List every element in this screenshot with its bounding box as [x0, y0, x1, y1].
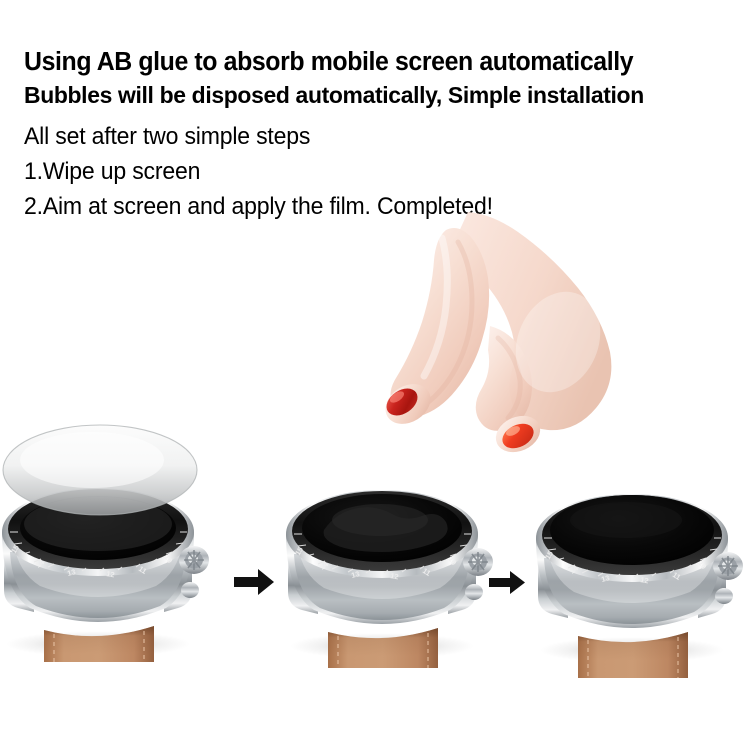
hand-back	[456, 212, 611, 430]
instructions-step-1: 1.Wipe up screen	[24, 154, 721, 189]
watch-step-2-finger-pressing: 15 14 13 12 11 10	[272, 418, 507, 668]
step-arrow-2-icon	[487, 568, 527, 597]
headline-secondary: Bubbles will be disposed automatically, …	[24, 79, 732, 112]
index-finger	[390, 228, 489, 417]
headline-primary: Using AB glue to absorb mobile screen au…	[24, 46, 732, 79]
instructions-step-2: 2.Aim at screen and apply the film. Comp…	[24, 189, 721, 224]
svg-text:12: 12	[640, 575, 650, 585]
watch-body: 15 14 13 12 11 10	[536, 494, 743, 628]
instructions-intro: All set after two simple steps	[24, 119, 721, 154]
installation-steps-illustration: 15 14 13 12 11 10	[0, 400, 750, 660]
watch-step-3-film-applied: 15 14 13 12 11 10	[522, 428, 750, 678]
step-arrow-1-icon	[232, 566, 276, 598]
svg-text:12: 12	[390, 571, 400, 581]
watch-body: 15 14 13 12 11 10	[286, 490, 493, 624]
instruction-text-block: Using AB glue to absorb mobile screen au…	[0, 0, 750, 224]
screen-protector-film	[3, 425, 197, 515]
watch-step-1-film-hovering: 15 14 13 12 11 10	[0, 412, 223, 662]
svg-text:12: 12	[106, 569, 116, 579]
